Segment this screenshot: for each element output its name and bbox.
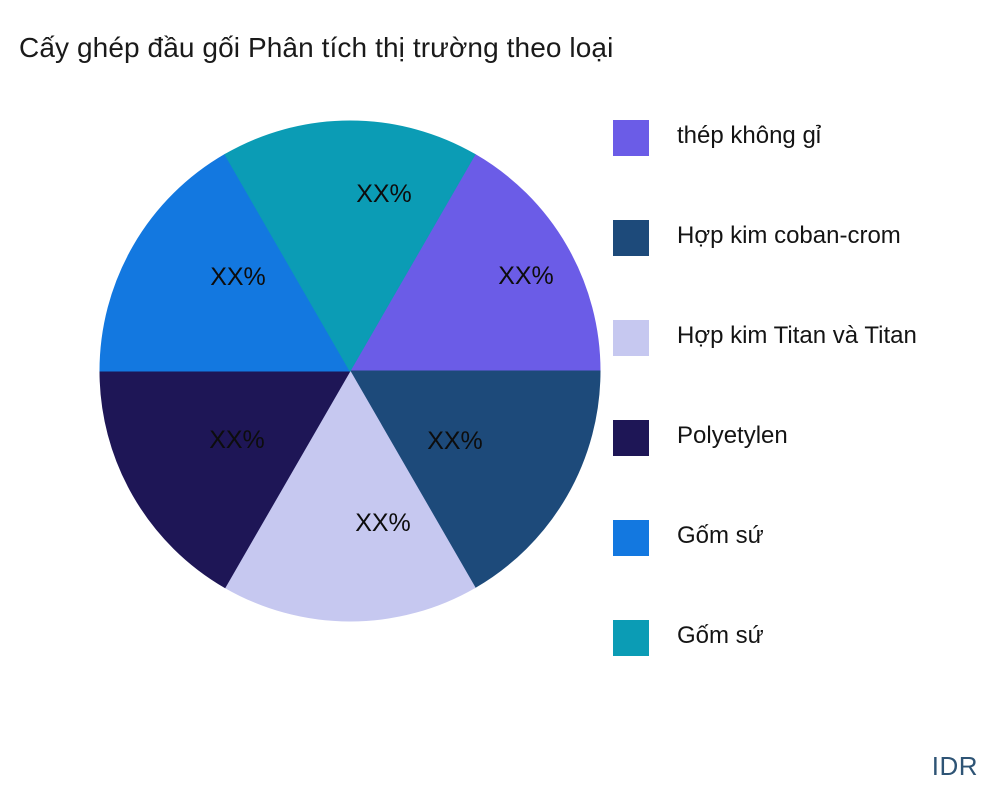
legend-swatch-icon bbox=[613, 120, 649, 156]
legend-swatch-icon bbox=[613, 320, 649, 356]
legend: thép không gỉ Hợp kim coban-crom Hợp kim… bbox=[613, 118, 1000, 718]
legend-item-polyetylen[interactable]: Polyetylen bbox=[613, 418, 1000, 518]
pie-slice-group bbox=[100, 121, 600, 621]
legend-swatch-icon bbox=[613, 520, 649, 556]
legend-item-hop-kim-titan[interactable]: Hợp kim Titan và Titan bbox=[613, 318, 1000, 418]
legend-item-label: Gốm sứ bbox=[677, 618, 764, 654]
legend-item-label: Hợp kim coban-crom bbox=[677, 218, 901, 254]
legend-item-label: Hợp kim Titan và Titan bbox=[677, 318, 917, 354]
legend-swatch-icon bbox=[613, 220, 649, 256]
pie-chart-svg: XX%XX%XX%XX%XX%XX% bbox=[0, 0, 620, 720]
pie-slice-value-label: XX% bbox=[427, 427, 483, 455]
legend-item-hop-kim-coban-crom[interactable]: Hợp kim coban-crom bbox=[613, 218, 1000, 318]
watermark-label: IDR bbox=[932, 751, 978, 782]
legend-item-label: Polyetylen bbox=[677, 418, 788, 454]
pie-chart: XX%XX%XX%XX%XX%XX% bbox=[0, 0, 620, 720]
legend-swatch-icon bbox=[613, 620, 649, 656]
pie-slice-value-label: XX% bbox=[209, 426, 265, 454]
pie-slice-value-label: XX% bbox=[498, 262, 554, 290]
legend-item-label: Gốm sứ bbox=[677, 518, 764, 554]
legend-item-label: thép không gỉ bbox=[677, 118, 821, 154]
pie-slice-value-label: XX% bbox=[355, 509, 411, 537]
pie-slice-value-label: XX% bbox=[356, 180, 412, 208]
legend-item-gom-su-1[interactable]: Gốm sứ bbox=[613, 518, 1000, 618]
pie-slice-value-label: XX% bbox=[210, 263, 266, 291]
legend-item-gom-su-2[interactable]: Gốm sứ bbox=[613, 618, 1000, 718]
legend-item-thep-khong-gi[interactable]: thép không gỉ bbox=[613, 118, 1000, 218]
legend-swatch-icon bbox=[613, 420, 649, 456]
